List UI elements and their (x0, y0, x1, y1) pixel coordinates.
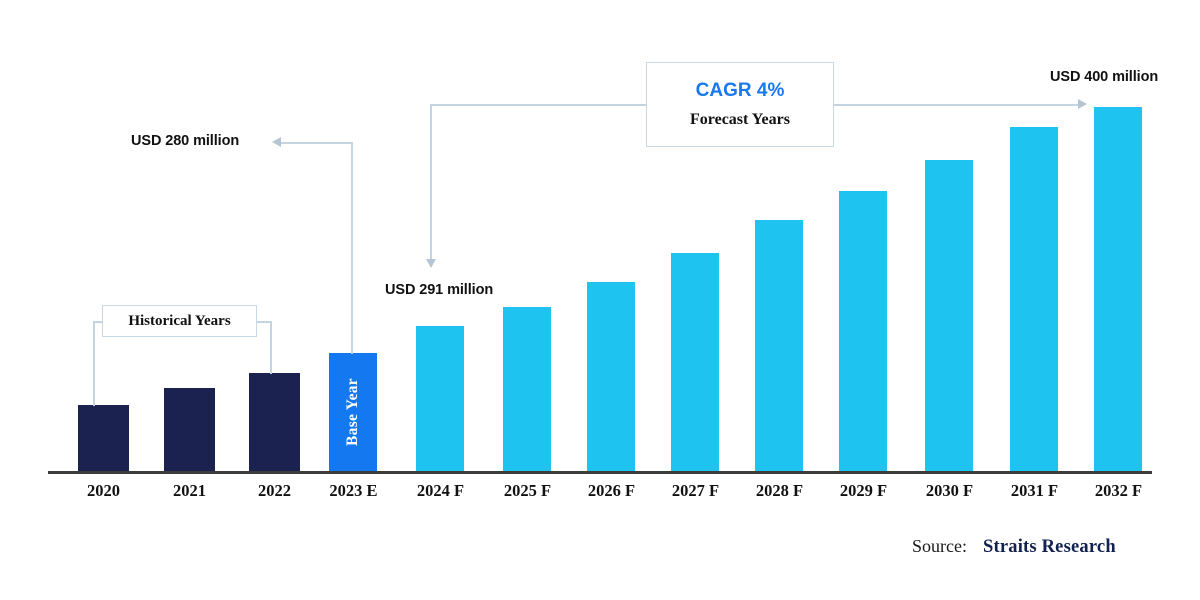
bar-2028 (755, 220, 803, 471)
historical-years-box: Historical Years (102, 305, 257, 337)
bar-2030 (925, 160, 973, 471)
base-year-label: Base Year (344, 378, 362, 446)
bar-chart: Base Year 2020 2021 2022 2023 E 2024 F 2… (0, 0, 1200, 600)
callout-291-label: USD 291 million (385, 282, 493, 298)
historical-bracket-right-leg (270, 321, 272, 374)
plot-area: Base Year 2020 2021 2022 2023 E 2024 F 2… (0, 0, 1200, 600)
source-label: Source: (912, 536, 967, 557)
historical-bracket-left-leg (93, 321, 95, 406)
x-axis-line (48, 471, 1152, 474)
cagr-value-label: CAGR 4% (696, 80, 785, 102)
cagr-right-arm (834, 104, 1080, 106)
bar-2024 (416, 326, 464, 471)
callout-400-label: USD 400 million (1050, 69, 1158, 85)
bar-2032 (1094, 107, 1142, 471)
x-tick-2021: 2021 (149, 481, 230, 501)
x-tick-2031: 2031 F (993, 481, 1076, 501)
bar-2021 (164, 388, 215, 471)
x-tick-2029: 2029 F (822, 481, 905, 501)
historical-bracket-right-arm (256, 321, 271, 323)
x-tick-2024: 2024 F (399, 481, 482, 501)
x-tick-2026: 2026 F (570, 481, 653, 501)
callout-291-dropper (430, 104, 432, 261)
historical-years-label: Historical Years (128, 313, 230, 330)
x-tick-2030: 2030 F (908, 481, 991, 501)
callout-280-label: USD 280 million (131, 133, 239, 149)
bar-2020 (78, 405, 129, 471)
x-tick-2022: 2022 (234, 481, 315, 501)
x-tick-2020: 2020 (63, 481, 144, 501)
bar-2023-base-year: Base Year (329, 353, 377, 471)
x-tick-2028: 2028 F (738, 481, 821, 501)
source-row: Source: Straits Research (912, 536, 1116, 558)
source-name[interactable]: Straits Research (983, 537, 1116, 558)
cagr-left-arm (430, 104, 647, 106)
x-tick-2032: 2032 F (1077, 481, 1160, 501)
x-tick-2025: 2025 F (486, 481, 569, 501)
bar-2029 (839, 191, 887, 471)
callout-280-arm (281, 142, 352, 144)
x-tick-2023: 2023 E (312, 481, 395, 501)
bar-2022 (249, 373, 300, 471)
cagr-forecast-box: CAGR 4% Forecast Years (646, 62, 834, 147)
bar-2031 (1010, 127, 1058, 471)
bar-2026 (587, 282, 635, 471)
x-tick-2027: 2027 F (654, 481, 737, 501)
callout-280-arrowhead (272, 137, 281, 147)
bar-2027 (671, 253, 719, 471)
callout-291-arrowhead (426, 259, 436, 268)
callout-280-riser (351, 142, 353, 354)
callout-400-arrowhead (1078, 99, 1087, 109)
forecast-years-label: Forecast Years (690, 111, 790, 129)
bar-2025 (503, 307, 551, 471)
